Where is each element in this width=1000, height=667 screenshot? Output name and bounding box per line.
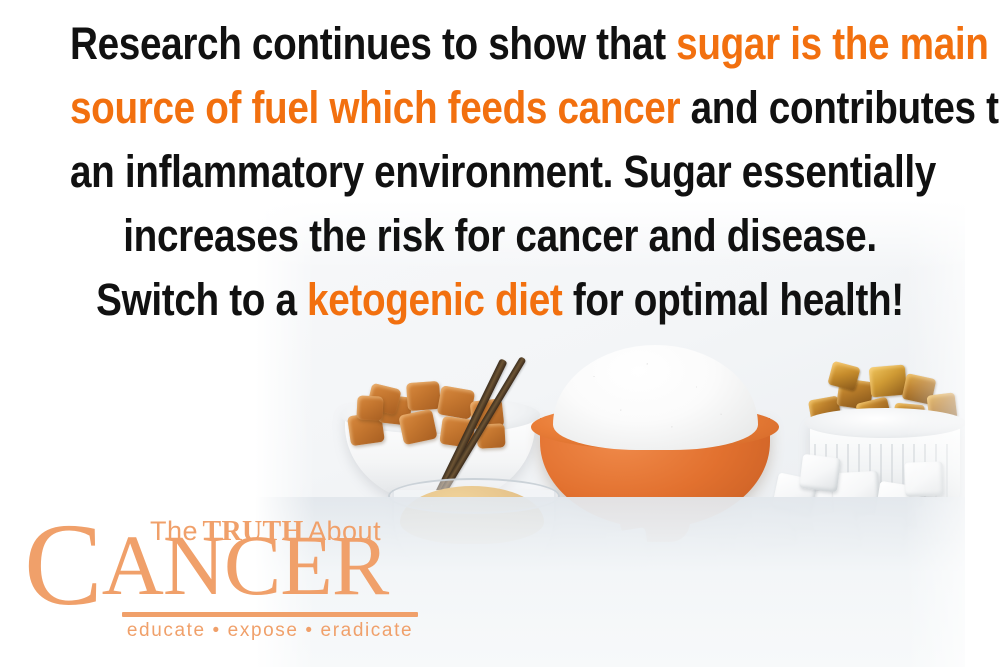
headline-seg: and contributes to <box>680 82 1000 133</box>
truth-about-cancer-logo[interactable]: The TRUTH About CANCER educate • expose … <box>18 500 418 650</box>
headline-line-2: source of fuel which feeds cancer and co… <box>70 76 930 140</box>
white-sugar-mound <box>553 345 758 450</box>
loose-sugar-cubes-group <box>560 528 810 628</box>
white-dish <box>735 490 965 600</box>
logo-tagline: educate • expose • eradicate <box>122 620 418 642</box>
headline-line-5: Switch to a ketogenic diet for optimal h… <box>70 268 930 332</box>
headline-text: Research continues to show that sugar is… <box>70 12 930 332</box>
headline-seg-highlight: sugar is the main <box>676 18 988 69</box>
headline-line-1: Research continues to show that sugar is… <box>70 12 930 76</box>
headline-seg: Research continues to show that <box>70 18 676 69</box>
orange-bowl-foot <box>620 516 690 542</box>
headline-seg-highlight: source of fuel which feeds cancer <box>70 82 680 133</box>
logo-cancer-rest: ANCER <box>102 517 388 613</box>
ramekin-rim <box>804 408 965 438</box>
headline-seg: Switch to a <box>96 274 307 325</box>
logo-divider-rule <box>122 612 418 617</box>
headline-seg: an inflammatory environment. Sugar essen… <box>70 146 936 197</box>
poster-canvas: Research continues to show that sugar is… <box>0 0 1000 667</box>
headline-seg-highlight: ketogenic diet <box>307 274 562 325</box>
headline-seg: increases the risk for cancer and diseas… <box>123 210 877 261</box>
headline-seg: for optimal health! <box>562 274 903 325</box>
logo-cancer-wordmark: CANCER <box>24 522 419 608</box>
headline-line-4: increases the risk for cancer and diseas… <box>70 204 930 268</box>
logo-cancer-initial: C <box>24 499 102 630</box>
white-sugar-cubes-group <box>745 450 965 555</box>
headline-line-3: an inflammatory environment. Sugar essen… <box>70 140 930 204</box>
